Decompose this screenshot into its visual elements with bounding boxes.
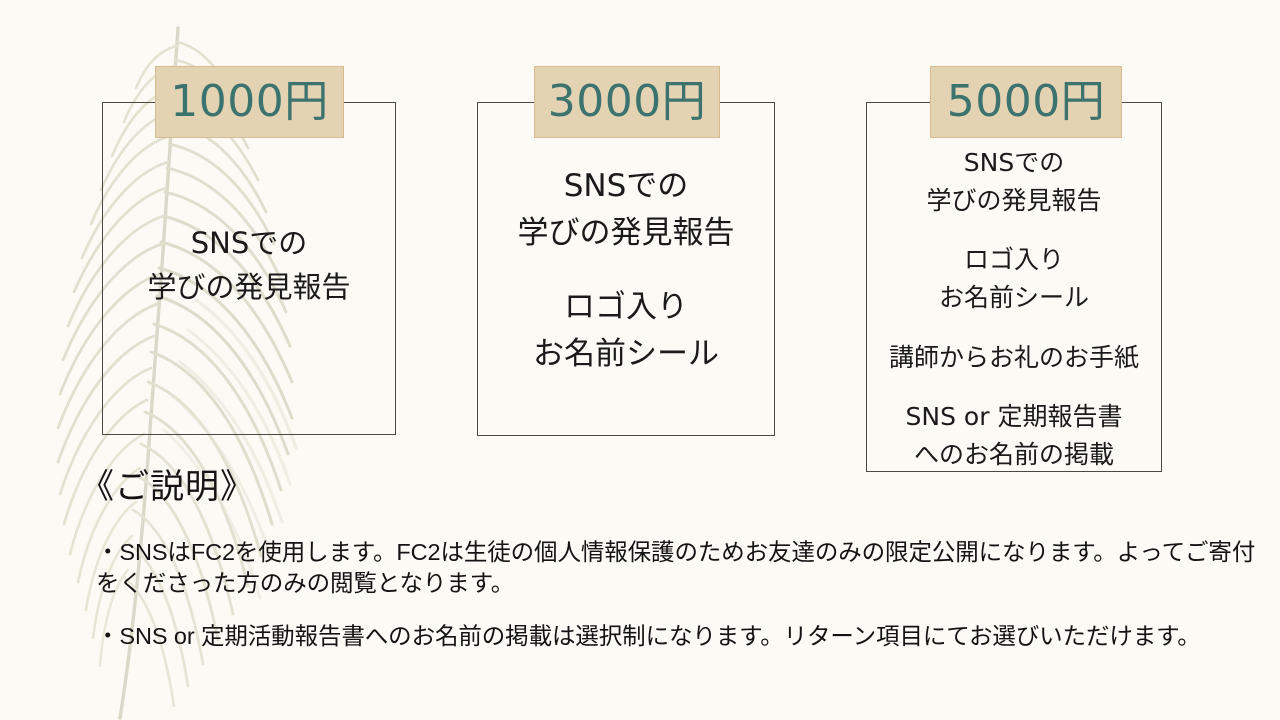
benefit-block: 講師からお礼のお手紙 xyxy=(866,339,1162,377)
tier-price-badge-1000: 1000円 xyxy=(155,66,344,138)
benefit-block: SNSでの 学びの発見報告 xyxy=(477,163,775,257)
tier-benefits-1000: SNSでの 学びの発見報告 xyxy=(102,222,396,309)
benefit-line: SNSでの xyxy=(866,144,1162,182)
tier-benefits-5000: SNSでの 学びの発見報告 ロゴ入り お名前シール 講師からお礼のお手紙 SNS… xyxy=(866,144,1162,474)
benefit-line: 講師からお礼のお手紙 xyxy=(866,339,1162,377)
note-item-2: ・SNS or 定期活動報告書へのお名前の掲載は選択制になります。リターン項目に… xyxy=(96,621,1256,652)
benefit-block: ロゴ入り お名前シール xyxy=(477,284,775,378)
tier-price-label: 3000円 xyxy=(548,80,706,124)
benefit-spacer xyxy=(866,220,1162,241)
benefit-line: SNSでの xyxy=(477,163,775,210)
tier-benefits-3000: SNSでの 学びの発見報告 ロゴ入り お名前シール xyxy=(477,163,775,378)
benefit-line: お名前シール xyxy=(477,331,775,378)
benefit-line: お名前シール xyxy=(866,279,1162,317)
benefit-spacer xyxy=(477,257,775,283)
tier-price-badge-5000: 5000円 xyxy=(930,66,1122,138)
tier-price-label: 1000円 xyxy=(170,80,328,124)
slide-canvas: 1000円 SNSでの 学びの発見報告 3000円 SNSでの 学びの発見報告 … xyxy=(0,0,1280,720)
benefit-line: 学びの発見報告 xyxy=(102,266,396,310)
tier-price-label: 5000円 xyxy=(947,80,1105,124)
benefit-block: SNSでの 学びの発見報告 xyxy=(866,144,1162,220)
benefit-line: SNSでの xyxy=(102,222,396,266)
benefit-line: 学びの発見報告 xyxy=(866,182,1162,220)
benefit-spacer xyxy=(866,317,1162,338)
benefit-block: SNSでの 学びの発見報告 xyxy=(102,222,396,309)
benefit-line: ロゴ入り xyxy=(866,241,1162,279)
benefit-line: SNS or 定期報告書 xyxy=(866,398,1162,436)
notes-heading: 《ご説明》 xyxy=(80,466,255,509)
benefit-block: ロゴ入り お名前シール xyxy=(866,241,1162,317)
benefit-line: へのお名前の掲載 xyxy=(866,436,1162,474)
tier-price-badge-3000: 3000円 xyxy=(534,66,720,138)
benefit-block: SNS or 定期報告書 へのお名前の掲載 xyxy=(866,398,1162,474)
benefit-spacer xyxy=(866,377,1162,398)
benefit-line: ロゴ入り xyxy=(477,284,775,331)
benefit-line: 学びの発見報告 xyxy=(477,210,775,257)
note-item-1: ・SNSはFC2を使用します。FC2は生徒の個人情報保護のためお友達のみの限定公… xyxy=(96,537,1256,599)
